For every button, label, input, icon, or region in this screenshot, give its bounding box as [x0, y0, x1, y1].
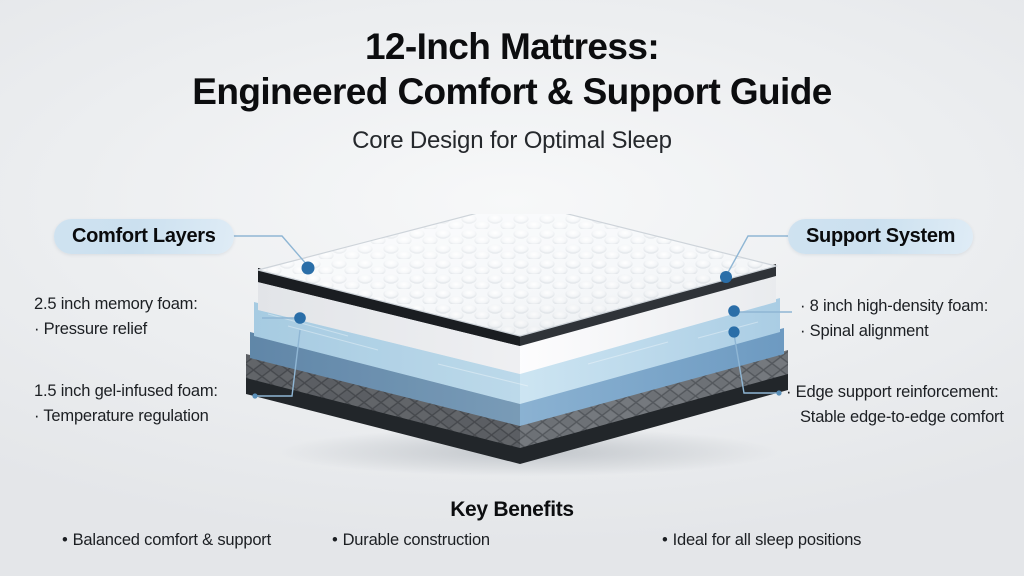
page-title-line-1: 12-Inch Mattress:	[0, 24, 1024, 69]
key-benefits-section: Key Benefits	[0, 498, 1024, 522]
annotation-memory-foam: 2.5 inch memory foam: · Pressure relief	[34, 292, 198, 342]
annotation-high-density-foam: · 8 inch high-density foam: · Spinal ali…	[800, 294, 988, 344]
annotation-memory-foam-line-1: 2.5 inch memory foam:	[34, 292, 198, 317]
bullet-icon: •	[332, 531, 338, 549]
callout-pill-support-system[interactable]: Support System	[788, 219, 973, 254]
annotation-gel-foam-line-1: 1.5 inch gel-infused foam:	[34, 379, 218, 404]
bullet-icon: •	[662, 531, 668, 549]
annotation-high-density-line-2: · Spinal alignment	[800, 319, 988, 344]
annotation-high-density-line-1: · 8 inch high-density foam:	[800, 294, 988, 319]
annotation-edge-support-line-2: Stable edge-to-edge comfort	[786, 405, 1004, 430]
key-benefits-title: Key Benefits	[0, 498, 1024, 522]
annotation-memory-foam-line-2: · Pressure relief	[34, 317, 198, 342]
key-benefits-list: •Balanced comfort & support •Durable con…	[0, 529, 1024, 557]
benefit-item-1: •Durable construction	[332, 529, 490, 551]
annotation-edge-support: · Edge support reinforcement: Stable edg…	[786, 380, 1004, 430]
header-block: 12-Inch Mattress: Engineered Comfort & S…	[0, 24, 1024, 156]
benefit-item-1-label: Durable construction	[343, 531, 490, 549]
benefit-item-2: •Ideal for all sleep positions	[662, 529, 861, 551]
infographic-canvas: 12-Inch Mattress: Engineered Comfort & S…	[0, 0, 1024, 576]
annotation-gel-foam-line-2: · Temperature regulation	[34, 404, 218, 429]
annotation-edge-support-line-1: · Edge support reinforcement:	[786, 380, 1004, 405]
callout-pill-comfort-layers[interactable]: Comfort Layers	[54, 219, 234, 254]
mattress-illustration	[228, 214, 796, 476]
benefit-item-0-label: Balanced comfort & support	[73, 531, 271, 549]
page-subtitle: Core Design for Optimal Sleep	[0, 126, 1024, 156]
annotation-gel-foam: 1.5 inch gel-infused foam: · Temperature…	[34, 379, 218, 429]
benefit-item-0: •Balanced comfort & support	[62, 529, 271, 551]
bullet-icon: •	[62, 531, 68, 549]
page-title-line-2: Engineered Comfort & Support Guide	[0, 69, 1024, 114]
benefit-item-2-label: Ideal for all sleep positions	[673, 531, 862, 549]
